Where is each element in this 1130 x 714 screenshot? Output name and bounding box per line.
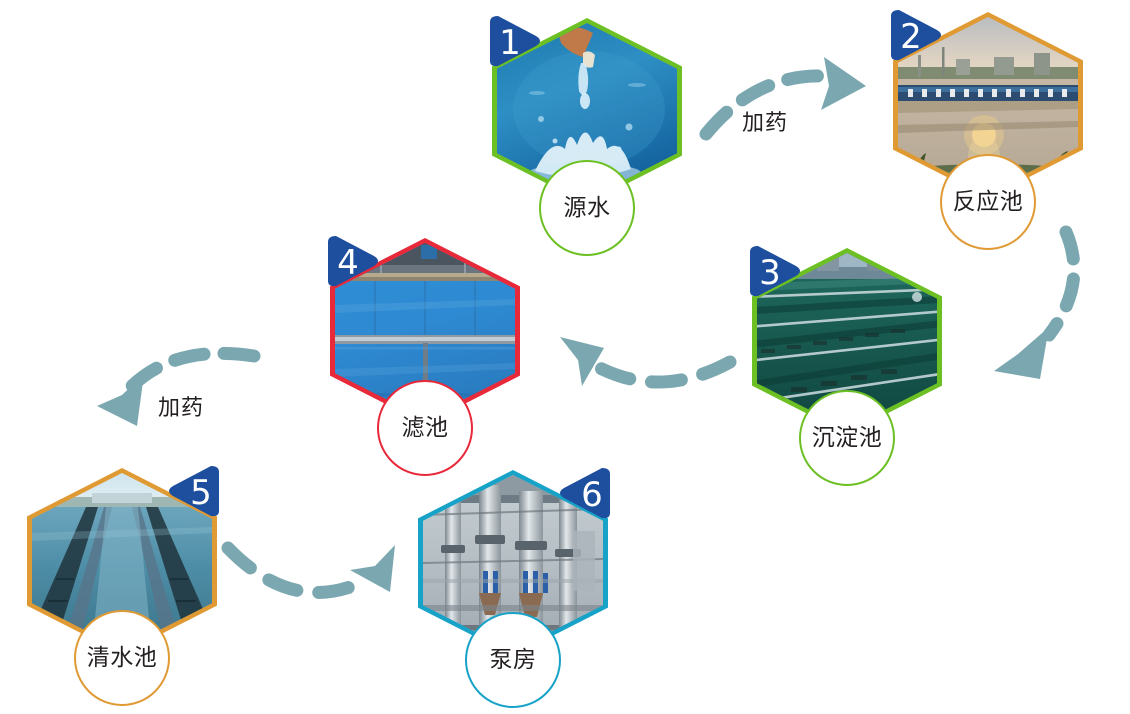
- step-node-3[interactable]: 3 沉淀池: [752, 248, 942, 498]
- arrow-1-to-2-head: [821, 57, 866, 110]
- step-1-label: 源水: [564, 197, 611, 220]
- step-2-label-circle[interactable]: 反应池: [940, 154, 1036, 250]
- step-6-number-badge: 6: [552, 466, 614, 522]
- step-6-label: 泵房: [490, 649, 537, 672]
- step-3-number: 3: [759, 253, 781, 293]
- arrow-3-to-4-line: [596, 362, 730, 382]
- arrow-3-to-4-head: [560, 337, 604, 386]
- step-4-number: 4: [337, 243, 359, 283]
- arrow-5-to-6-head: [350, 545, 395, 592]
- step-1-label-circle[interactable]: 源水: [539, 160, 635, 256]
- step-3-number-badge: 3: [746, 244, 808, 300]
- step-6-label-circle[interactable]: 泵房: [465, 612, 561, 708]
- step-node-1[interactable]: 1 源水: [492, 18, 682, 268]
- step-node-6[interactable]: 6 泵房: [418, 470, 608, 714]
- step-6-number: 6: [581, 475, 603, 515]
- step-2-label: 反应池: [953, 191, 1024, 214]
- arrow-4-to-5-line: [132, 353, 254, 386]
- arrow-4-to-5-head: [97, 374, 144, 426]
- step-4-number-badge: 4: [324, 234, 386, 290]
- step-5-number-badge: 5: [161, 464, 223, 520]
- step-4-label-circle[interactable]: 滤池: [377, 380, 473, 476]
- step-node-2[interactable]: 2 反应池: [893, 12, 1083, 262]
- arrow-label-dosing-1: 加药: [742, 105, 788, 137]
- process-flow-diagram: 加药 加药: [0, 0, 1130, 714]
- step-3-label-circle[interactable]: 沉淀池: [799, 390, 895, 486]
- arrow-2-to-3-head: [994, 327, 1049, 379]
- step-2-number-badge: 2: [887, 8, 949, 64]
- arrow-3-to-4: [560, 337, 730, 386]
- step-3-label: 沉淀池: [812, 427, 883, 450]
- arrow-label-dosing-2: 加药: [158, 390, 204, 422]
- step-4-label: 滤池: [402, 417, 449, 440]
- step-5-number: 5: [190, 473, 212, 513]
- arrow-5-to-6: [228, 545, 395, 593]
- step-1-number: 1: [499, 23, 521, 63]
- step-2-number: 2: [900, 17, 922, 57]
- arrow-5-to-6-line: [228, 548, 358, 593]
- step-node-5[interactable]: 5 清水池: [27, 468, 217, 714]
- step-5-label-circle[interactable]: 清水池: [74, 610, 170, 706]
- step-node-4[interactable]: 4 滤池: [330, 238, 520, 488]
- step-1-number-badge: 1: [486, 14, 548, 70]
- step-5-label: 清水池: [87, 647, 158, 670]
